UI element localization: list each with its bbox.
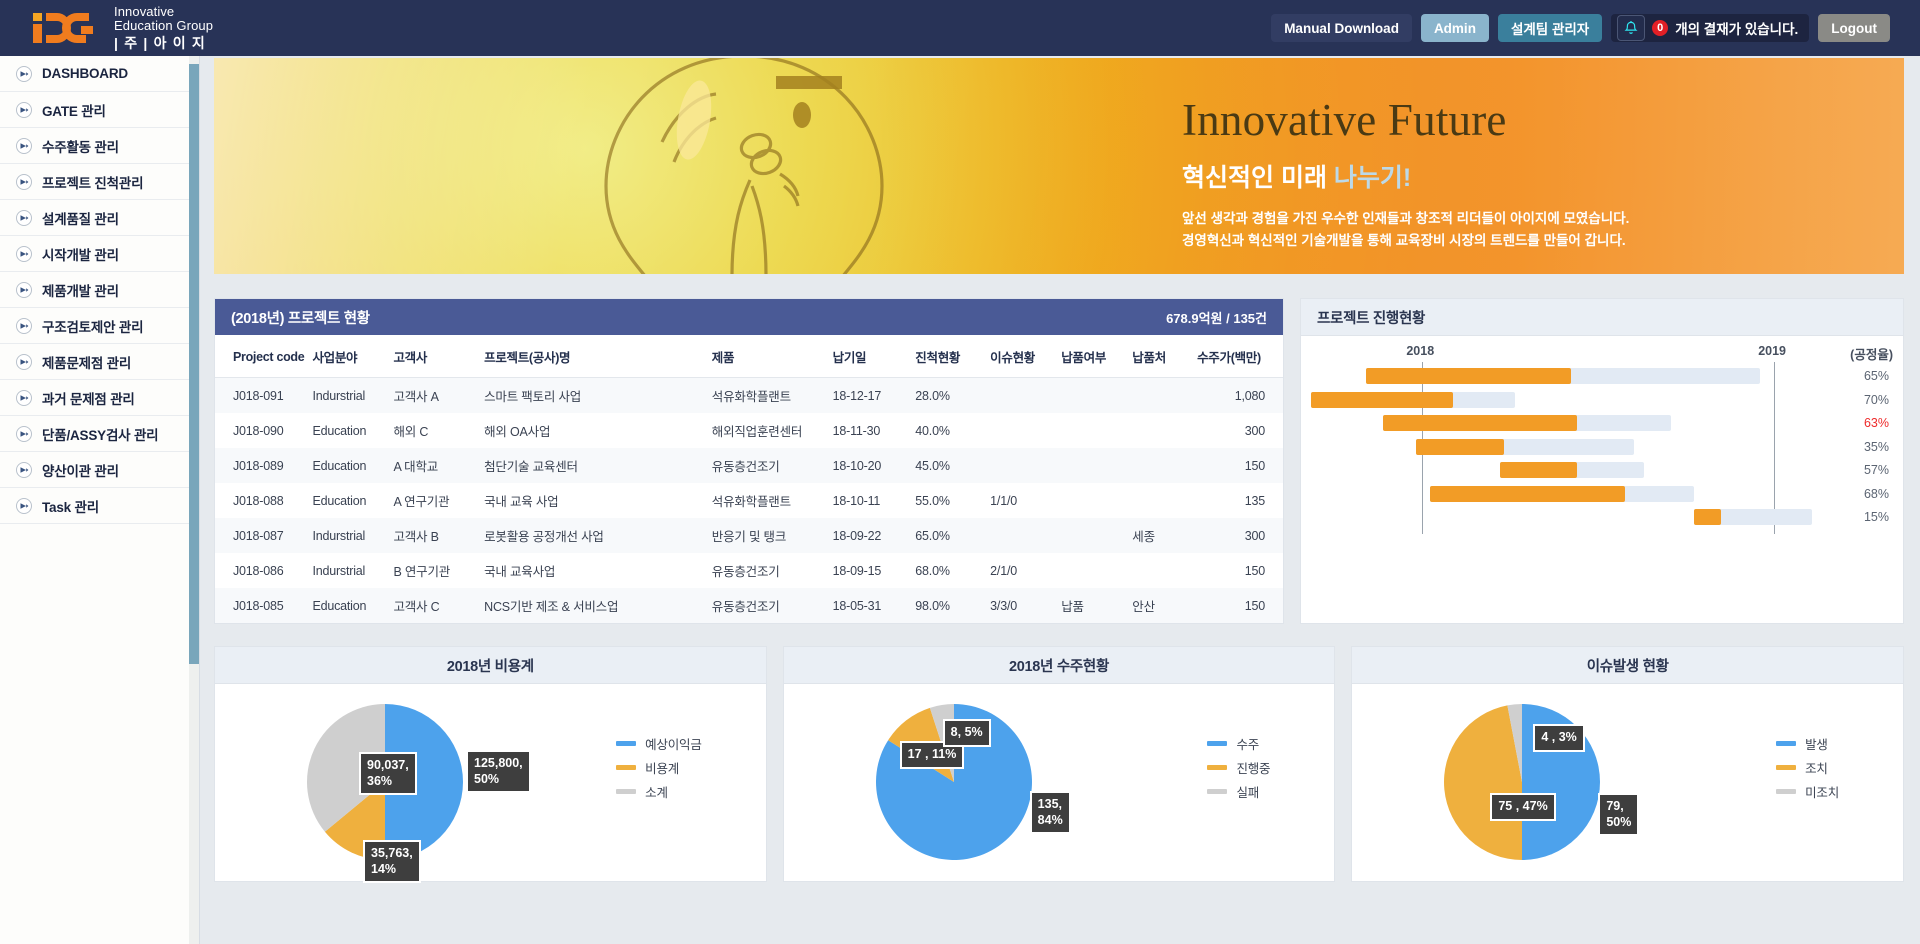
pie-graphic: 79, 50%75 , 47%4 , 3% — [1438, 690, 1608, 875]
gantt-bar-track — [1500, 462, 1644, 478]
project-progress-panel: 프로젝트 진행현황 20182019(공정율)65%70%63%35%57%68… — [1300, 298, 1904, 624]
project-table: Project code사업분야고객사프로젝트(공사)명제품납기일진척현황이슈현… — [215, 335, 1283, 623]
sidebar-item-proto-development[interactable]: 시작개발 관리 — [0, 236, 199, 272]
top-header: Innovative Education Group | 주 | 아 이 지 M… — [0, 0, 1920, 56]
cell-delivered — [1057, 448, 1128, 483]
pie-svg — [870, 690, 1040, 870]
cell-project: 로봇활용 공정개선 사업 — [480, 518, 708, 553]
cell-delivered: 납품 — [1057, 588, 1128, 623]
cell-field: Education — [308, 413, 389, 448]
cell-product: 해외직업훈련센터 — [708, 413, 829, 448]
column-header-product: 제품 — [708, 335, 829, 378]
cell-project: 첨단기술 교육센터 — [480, 448, 708, 483]
column-header-customer: 고객사 — [389, 335, 480, 378]
pie-legend: 예상이익금비용계소계 — [616, 734, 702, 806]
dashboard-row-1: (2018년) 프로젝트 현황 678.9억원 / 135건 Project c… — [214, 298, 1904, 624]
cell-customer: 고객사 B — [389, 518, 480, 553]
cell-product: 반응기 및 탱크 — [708, 518, 829, 553]
gantt-panel-header: 프로젝트 진행현황 — [1301, 299, 1903, 336]
cell-delivered — [1057, 483, 1128, 518]
cell-customer: 고객사 A — [389, 378, 480, 414]
pie-callout-0: 125,800, 50% — [466, 750, 531, 793]
gantt-bar-fill — [1311, 392, 1453, 408]
cell-code: J018-085 — [215, 588, 308, 623]
table-row[interactable]: J018-088EducationA 연구기관국내 교육 사업석유화학플랜트18… — [215, 483, 1283, 518]
cell-customer: B 연구기관 — [389, 553, 480, 588]
banner-text-block: Innovative Future 혁신적인 미래 나누기! 앞선 생각과 경험… — [1182, 94, 1629, 252]
cell-product: 유동층건조기 — [708, 448, 829, 483]
cell-issue[interactable]: 1/1/0 — [986, 483, 1057, 518]
banner-desc-line-1: 앞선 생각과 경험을 가진 우수한 인재들과 창조적 리더들이 아이지에 모였습… — [1182, 208, 1629, 230]
sidebar-item-label: 수주활동 관리 — [42, 136, 119, 156]
project-panel-header: (2018년) 프로젝트 현황 678.9억원 / 135건 — [215, 299, 1283, 335]
sidebar-item-label: DASHBOARD — [42, 66, 128, 81]
cell-due: 18-09-22 — [829, 518, 912, 553]
project-panel-summary: 678.9억원 / 135건 — [1166, 308, 1267, 327]
cell-project: 해외 OA사업 — [480, 413, 708, 448]
cell-due: 18-05-31 — [829, 588, 912, 623]
sidebar-item-structure-review[interactable]: 구조검토제안 관리 — [0, 308, 199, 344]
legend-label: 미조치 — [1805, 782, 1839, 801]
team-manager-button[interactable]: 설계팀 관리자 — [1498, 14, 1602, 42]
gantt-rate-value: 70% — [1841, 393, 1889, 407]
project-table-header-row: Project code사업분야고객사프로젝트(공사)명제품납기일진척현황이슈현… — [215, 335, 1283, 378]
cell-place — [1128, 483, 1193, 518]
column-header-field: 사업분야 — [308, 335, 389, 378]
cell-code: J018-088 — [215, 483, 308, 518]
cell-issue[interactable] — [986, 413, 1057, 448]
legend-swatch — [1776, 741, 1796, 746]
gantt-bar-fill — [1500, 462, 1578, 478]
cell-customer: 고객사 C — [389, 588, 480, 623]
legend-label: 수주 — [1236, 734, 1259, 753]
arrow-right-icon — [16, 426, 32, 442]
legend-item-0[interactable]: 발생 — [1776, 734, 1839, 753]
cell-product: 석유화학플랜트 — [708, 483, 829, 518]
cell-project: 국내 교육사업 — [480, 553, 708, 588]
sidebar-item-task[interactable]: Task 관리 — [0, 488, 199, 524]
sidebar-item-assy-inspection[interactable]: 단품/ASSY검사 관리 — [0, 416, 199, 452]
app-logo[interactable]: Innovative Education Group | 주 | 아 이 지 — [33, 5, 213, 52]
gantt-rate-value: 63% — [1841, 416, 1889, 430]
cell-delivered — [1057, 378, 1128, 414]
cell-delivered — [1057, 413, 1128, 448]
pie-chart-body: 79, 50%75 , 47%4 , 3%발생조치미조치 — [1352, 684, 1903, 881]
arrow-right-icon — [16, 102, 32, 118]
cell-price: 150 — [1193, 448, 1283, 483]
column-header-price: 수주가(백만) — [1193, 335, 1283, 378]
gantt-rate-value: 35% — [1841, 440, 1889, 454]
arrow-right-icon — [16, 498, 32, 514]
cell-place: 안산 — [1128, 588, 1193, 623]
cell-due: 18-12-17 — [829, 378, 912, 414]
logo-line-1: Innovative — [114, 5, 213, 20]
legend-swatch — [616, 789, 636, 794]
cell-price: 135 — [1193, 483, 1283, 518]
pie-panel-title: 2018년 비용계 — [447, 655, 534, 676]
legend-item-2[interactable]: 소계 — [616, 782, 702, 801]
sidebar-menu-list: DASHBOARDGATE 관리수주활동 관리프로젝트 진척관리설계품질 관리시… — [0, 56, 199, 524]
table-row[interactable]: J018-091Indurstrial고객사 A스마트 팩토리 사업석유화학플랜… — [215, 378, 1283, 414]
cell-code: J018-090 — [215, 413, 308, 448]
sidebar-scrollbar-track[interactable] — [189, 56, 199, 944]
pie-slice-1[interactable] — [1444, 705, 1522, 860]
pie-callout-1: 35,763, 14% — [363, 840, 421, 883]
sidebar-item-label: GATE 관리 — [42, 100, 106, 120]
cell-field: Indurstrial — [308, 378, 389, 414]
gantt-bar-track — [1366, 368, 1760, 384]
legend-label: 발생 — [1805, 734, 1828, 753]
sidebar-item-label: 설계품질 관리 — [42, 208, 119, 228]
column-header-due: 납기일 — [829, 335, 912, 378]
cell-place — [1128, 378, 1193, 414]
gantt-bar-track — [1430, 486, 1694, 502]
gantt-bar-fill — [1383, 415, 1577, 431]
column-header-code: Project code — [215, 335, 308, 378]
gantt-bar-track — [1383, 415, 1671, 431]
cell-due: 18-10-20 — [829, 448, 912, 483]
pie-callout-0: 135, 84% — [1030, 791, 1071, 834]
legend-swatch — [1207, 789, 1227, 794]
sidebar-item-label: 양산이관 관리 — [42, 460, 119, 480]
cell-issue[interactable] — [986, 518, 1057, 553]
pie-panel-header: 이슈발생 현황 — [1352, 647, 1903, 684]
sidebar-item-label: 제품개발 관리 — [42, 280, 119, 300]
column-header-progress: 진척현황 — [911, 335, 986, 378]
legend-item-0[interactable]: 수주 — [1207, 734, 1270, 753]
column-header-delivered: 납품여부 — [1057, 335, 1128, 378]
arrow-right-icon — [16, 138, 32, 154]
cell-code: J018-086 — [215, 553, 308, 588]
gantt-rate-value: 57% — [1841, 463, 1889, 477]
pie-panel-2: 이슈발생 현황79, 50%75 , 47%4 , 3%발생조치미조치 — [1351, 646, 1904, 882]
project-table-head: Project code사업분야고객사프로젝트(공사)명제품납기일진척현황이슈현… — [215, 335, 1283, 378]
arrow-right-icon — [16, 390, 32, 406]
sidebar-item-dashboard[interactable]: DASHBOARD — [0, 56, 199, 92]
gantt-rate-value: 15% — [1841, 510, 1889, 524]
bell-icon[interactable] — [1617, 15, 1645, 41]
pie-callout-0: 79, 50% — [1598, 793, 1639, 836]
logo-line-2: Education Group — [114, 19, 213, 34]
cell-project: 스마트 팩토리 사업 — [480, 378, 708, 414]
cell-place — [1128, 448, 1193, 483]
sidebar-item-label: 프로젝트 진척관리 — [42, 172, 143, 192]
sidebar-item-mass-production[interactable]: 양산이관 관리 — [0, 452, 199, 488]
legend-item-1[interactable]: 비용계 — [616, 758, 702, 777]
arrow-right-icon — [16, 174, 32, 190]
legend-swatch — [1776, 765, 1796, 770]
legend-label: 예상이익금 — [645, 734, 702, 753]
table-row[interactable]: J018-090Education해외 C해외 OA사업해외직업훈련센터18-1… — [215, 413, 1283, 448]
idg-logo-icon — [33, 10, 105, 46]
arrow-right-icon — [16, 354, 32, 370]
banner-description: 앞선 생각과 경험을 가진 우수한 인재들과 창조적 리더들이 아이지에 모였습… — [1182, 208, 1629, 252]
pie-panel-header: 2018년 수주현황 — [784, 647, 1335, 684]
cell-issue[interactable] — [986, 378, 1057, 414]
banner-subtitle-a: 혁신적인 미래 — [1182, 164, 1334, 192]
pie-panel-1: 2018년 수주현황135, 84%17 , 11%8, 5%수주진행중실패 — [783, 646, 1336, 882]
sidebar-item-gate[interactable]: GATE 관리 — [0, 92, 199, 128]
cell-customer: A 연구기관 — [389, 483, 480, 518]
legend-item-2[interactable]: 미조치 — [1776, 782, 1839, 801]
pie-panel-title: 2018년 수주현황 — [1009, 655, 1109, 676]
legend-label: 비용계 — [645, 758, 679, 777]
legend-item-0[interactable]: 예상이익금 — [616, 734, 702, 753]
cell-progress[interactable]: 98.0% — [911, 588, 986, 623]
sidebar-item-project-progress[interactable]: 프로젝트 진척관리 — [0, 164, 199, 200]
hero-banner: Innovative Future 혁신적인 미래 나누기! 앞선 생각과 경험… — [214, 58, 1904, 274]
pie-panel-0: 2018년 비용계125,800, 50%35,763, 14%90,037, … — [214, 646, 767, 882]
cell-due: 18-10-11 — [829, 483, 912, 518]
main-content: Innovative Future 혁신적인 미래 나누기! 앞선 생각과 경험… — [200, 56, 1920, 944]
cell-code: J018-089 — [215, 448, 308, 483]
gantt-rate-header: (공정율) — [1837, 344, 1893, 363]
project-status-panel: (2018년) 프로젝트 현황 678.9억원 / 135건 Project c… — [214, 298, 1284, 624]
gantt-axis-2018: 2018 — [1406, 344, 1434, 358]
cell-product: 유동층건조기 — [708, 588, 829, 623]
logout-button[interactable]: Logout — [1818, 14, 1890, 42]
cell-code: J018-087 — [215, 518, 308, 553]
gantt-bar-fill — [1694, 509, 1721, 525]
cell-progress[interactable]: 55.0% — [911, 483, 986, 518]
legend-swatch — [1776, 789, 1796, 794]
gantt-bar-track — [1694, 509, 1812, 525]
cell-field: Education — [308, 483, 389, 518]
table-row[interactable]: J018-089EducationA 대학교첨단기술 교육센터유동층건조기18-… — [215, 448, 1283, 483]
cell-product: 석유화학플랜트 — [708, 378, 829, 414]
logo-line-3: | 주 | 아 이 지 — [114, 35, 213, 51]
cell-field: Indurstrial — [308, 518, 389, 553]
sidebar-scrollbar-thumb[interactable] — [189, 64, 199, 664]
gantt-bar-track — [1311, 392, 1515, 408]
banner-subtitle: 혁신적인 미래 나누기! — [1182, 158, 1629, 194]
sidebar-item-label: Task 관리 — [42, 496, 99, 516]
cell-progress[interactable]: 40.0% — [911, 413, 986, 448]
cell-issue[interactable] — [986, 448, 1057, 483]
legend-item-1[interactable]: 조치 — [1776, 758, 1839, 777]
sidebar-item-product-issue[interactable]: 제품문제점 관리 — [0, 344, 199, 380]
sidebar-item-past-issue[interactable]: 과거 문제점 관리 — [0, 380, 199, 416]
gantt-bar-fill — [1366, 368, 1571, 384]
admin-button[interactable]: Admin — [1421, 14, 1489, 42]
sidebar-item-label: 제품문제점 관리 — [42, 352, 131, 372]
sidebar-item-product-development[interactable]: 제품개발 관리 — [0, 272, 199, 308]
arrow-right-icon — [16, 282, 32, 298]
pie-callout-2: 4 , 3% — [1533, 724, 1584, 752]
arrow-right-icon — [16, 210, 32, 226]
pie-callout-2: 90,037, 36% — [359, 752, 417, 795]
pie-chart-body: 135, 84%17 , 11%8, 5%수주진행중실패 — [784, 684, 1335, 881]
sidebar-item-label: 시작개발 관리 — [42, 244, 119, 264]
legend-label: 소계 — [645, 782, 668, 801]
approval-count-badge: 0 — [1652, 20, 1668, 36]
pie-panel-header: 2018년 비용계 — [215, 647, 766, 684]
cell-issue[interactable]: 2/1/0 — [986, 553, 1057, 588]
sidebar-item-label: 단품/ASSY검사 관리 — [42, 424, 158, 444]
cell-code: J018-091 — [215, 378, 308, 414]
gantt-bar-fill — [1416, 439, 1504, 455]
cell-price: 300 — [1193, 518, 1283, 553]
banner-title: Innovative Future — [1182, 94, 1629, 146]
cell-place — [1128, 553, 1193, 588]
cell-field: Education — [308, 448, 389, 483]
pie-callout-1: 75 , 47% — [1490, 793, 1555, 821]
arrow-right-icon — [16, 246, 32, 262]
legend-swatch — [1207, 765, 1227, 770]
sidebar: DASHBOARDGATE 관리수주활동 관리프로젝트 진척관리설계품질 관리시… — [0, 56, 200, 944]
pie-graphic: 135, 84%17 , 11%8, 5% — [870, 690, 1040, 875]
cell-place — [1128, 413, 1193, 448]
sidebar-item-order-activity[interactable]: 수주활동 관리 — [0, 128, 199, 164]
column-header-place: 납품처 — [1128, 335, 1193, 378]
gantt-panel-title: 프로젝트 진행현황 — [1317, 307, 1425, 328]
cell-progress[interactable]: 65.0% — [911, 518, 986, 553]
cell-field: Education — [308, 588, 389, 623]
project-panel-title: (2018년) 프로젝트 현황 — [231, 307, 370, 328]
cell-due: 18-09-15 — [829, 553, 912, 588]
cell-delivered — [1057, 553, 1128, 588]
cell-product: 유동층건조기 — [708, 553, 829, 588]
cell-progress[interactable]: 68.0% — [911, 553, 986, 588]
pie-callout-2: 8, 5% — [943, 719, 991, 747]
legend-swatch — [616, 765, 636, 770]
gantt-rate-value: 68% — [1841, 487, 1889, 501]
legend-label: 실패 — [1236, 782, 1259, 801]
arrow-right-icon — [16, 66, 32, 82]
approval-notice[interactable]: 0 개의 결재가 있습니다. — [1611, 14, 1809, 42]
pie-svg — [1438, 690, 1608, 870]
cell-price: 150 — [1193, 553, 1283, 588]
sidebar-item-label: 과거 문제점 관리 — [42, 388, 135, 408]
column-header-project: 프로젝트(공사)명 — [480, 335, 708, 378]
cell-progress[interactable]: 28.0% — [911, 378, 986, 414]
cell-project: 국내 교육 사업 — [480, 483, 708, 518]
legend-item-2[interactable]: 실패 — [1207, 782, 1270, 801]
pie-legend: 수주진행중실패 — [1207, 734, 1270, 806]
legend-label: 진행중 — [1236, 758, 1270, 777]
table-row[interactable]: J018-085Education고객사 CNCS기반 제조 & 서비스업유동층… — [215, 588, 1283, 623]
sidebar-item-design-quality[interactable]: 설계품질 관리 — [0, 200, 199, 236]
cell-field: Indurstrial — [308, 553, 389, 588]
cell-project: NCS기반 제조 & 서비스업 — [480, 588, 708, 623]
cell-price: 1,080 — [1193, 378, 1283, 414]
banner-subtitle-b: 나누기! — [1334, 164, 1411, 192]
gantt-bar-track — [1416, 439, 1634, 455]
cell-price: 300 — [1193, 413, 1283, 448]
cell-customer: 해외 C — [389, 413, 480, 448]
legend-item-1[interactable]: 진행중 — [1207, 758, 1270, 777]
arrow-right-icon — [16, 462, 32, 478]
table-row[interactable]: J018-087Indurstrial고객사 B로봇활용 공정개선 사업반응기 … — [215, 518, 1283, 553]
arrow-right-icon — [16, 318, 32, 334]
cell-progress[interactable]: 45.0% — [911, 448, 986, 483]
pie-chart-body: 125,800, 50%35,763, 14%90,037, 36%예상이익금비… — [215, 684, 766, 881]
pie-legend: 발생조치미조치 — [1776, 734, 1839, 806]
manual-download-button[interactable]: Manual Download — [1271, 14, 1412, 42]
gantt-axis-2019: 2019 — [1758, 344, 1786, 358]
dashboard-row-2: 2018년 비용계125,800, 50%35,763, 14%90,037, … — [214, 646, 1904, 882]
sidebar-item-label: 구조검토제안 관리 — [42, 316, 143, 336]
gantt-chart: 20182019(공정율)65%70%63%35%57%68%15% — [1301, 336, 1903, 536]
cell-issue[interactable]: 3/3/0 — [986, 588, 1057, 623]
column-header-issue: 이슈현황 — [986, 335, 1057, 378]
approval-notice-text: 개의 결재가 있습니다. — [1675, 18, 1798, 38]
cell-customer: A 대학교 — [389, 448, 480, 483]
banner-desc-line-2: 경영혁신과 혁신적인 기술개발을 통해 교육장비 시장의 트렌드를 만들어 갑니… — [1182, 230, 1629, 252]
pie-graphic: 125,800, 50%35,763, 14%90,037, 36% — [301, 690, 471, 875]
table-row[interactable]: J018-086IndurstrialB 연구기관국내 교육사업유동층건조기18… — [215, 553, 1283, 588]
legend-label: 조치 — [1805, 758, 1828, 777]
gantt-rate-value: 65% — [1841, 369, 1889, 383]
cell-place: 세종 — [1128, 518, 1193, 553]
gantt-bar-fill — [1430, 486, 1625, 502]
pie-panel-title: 이슈발생 현황 — [1587, 655, 1669, 676]
legend-swatch — [616, 741, 636, 746]
cell-due: 18-11-30 — [829, 413, 912, 448]
cell-delivered — [1057, 518, 1128, 553]
cell-price: 150 — [1193, 588, 1283, 623]
header-actions: Manual Download Admin 설계팀 관리자 0 개의 결재가 있… — [1271, 14, 1890, 42]
legend-swatch — [1207, 741, 1227, 746]
project-table-body: J018-091Indurstrial고객사 A스마트 팩토리 사업석유화학플랜… — [215, 378, 1283, 624]
